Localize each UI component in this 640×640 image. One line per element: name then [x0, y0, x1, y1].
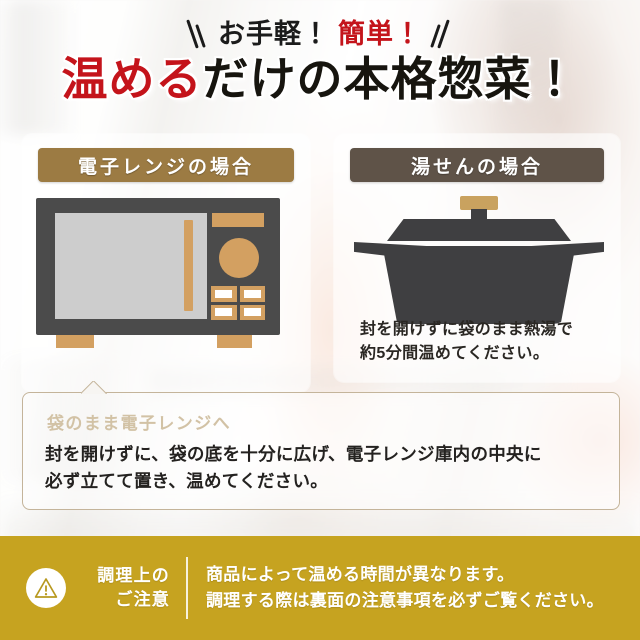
callout-pointer	[81, 381, 107, 394]
callout-body-line-2: 必ず立てて置き、温めてください。	[45, 468, 603, 495]
microwave-key	[240, 286, 266, 302]
kicker-text-red: 簡単！	[338, 21, 422, 48]
instruction-graphic: お手軽！ 簡単！ 温めるだけの本格惣菜！ 電子レンジの場合	[0, 0, 640, 640]
pot-lid	[387, 219, 571, 241]
page-title: 温めるだけの本格惣菜！	[0, 56, 640, 104]
caution-label: 調理上の ご注意	[78, 564, 170, 612]
card-boiling-title: 湯せんの場合	[350, 148, 604, 182]
microwave-keypad	[211, 286, 265, 320]
slash-right-icon	[430, 19, 452, 49]
callout-body: 封を開けずに、袋の底を十分に広げ、電子レンジ庫内の中央に 必ず立てて置き、温めて…	[45, 441, 603, 496]
caution-text: 商品によって温める時間が異なります。 調理する際は裏面の注意事項を必ずご覧くださ…	[206, 562, 604, 614]
callout-body-line-1: 封を開けずに、袋の底を十分に広げ、電子レンジ庫内の中央に	[45, 441, 603, 468]
caution-label-line-1: 調理上の	[78, 564, 170, 588]
page-title-red: 温める	[62, 53, 203, 105]
warning-triangle-glyph	[34, 577, 58, 599]
slash-left-icon	[188, 19, 210, 49]
card-boiling: 湯せんの場合 封を開けずに袋のまま熱湯で 約5分間温めてください。	[334, 134, 620, 382]
warning-triangle-icon	[26, 568, 66, 608]
boiling-instruction-line-2: 約5分間温めてください。	[360, 342, 610, 366]
callout-box: 袋のまま電子レンジへ 封を開けずに、袋の底を十分に広げ、電子レンジ庫内の中央に …	[22, 392, 620, 510]
microwave-handle	[184, 220, 193, 311]
caution-label-line-2: ご注意	[78, 588, 170, 612]
microwave-foot	[217, 335, 252, 348]
microwave-key	[211, 305, 237, 321]
card-microwave: 電子レンジの場合	[22, 134, 310, 392]
caution-text-line-2: 調理する際は裏面の注意事項を必ずご覧ください。	[206, 588, 604, 614]
headline-block: お手軽！ 簡単！ 温めるだけの本格惣菜！	[0, 16, 640, 104]
card-microwave-title: 電子レンジの場合	[38, 148, 294, 182]
microwave-key	[211, 286, 237, 302]
page-title-black: だけの本格惣菜！	[203, 53, 579, 105]
kicker-text-black: お手軽！	[218, 21, 330, 48]
microwave-body	[36, 198, 280, 335]
pot-body	[384, 254, 574, 324]
headline-kicker: お手軽！ 簡単！	[0, 16, 640, 52]
microwave-key	[240, 305, 266, 321]
caution-divider	[186, 557, 188, 619]
microwave-display	[212, 213, 264, 227]
microwave-dial-icon	[219, 238, 259, 278]
pot-knob	[460, 196, 498, 210]
microwave-foot	[56, 335, 94, 348]
callout-subtitle: 袋のまま電子レンジへ	[47, 409, 231, 434]
caution-bar: 調理上の ご注意 商品によって温める時間が異なります。 調理する際は裏面の注意事…	[0, 536, 640, 640]
boiling-instruction-line-1: 封を開けずに袋のまま熱湯で	[360, 318, 610, 342]
microwave-illustration	[34, 198, 298, 358]
caution-text-line-1: 商品によって温める時間が異なります。	[206, 562, 604, 588]
pot-illustration	[354, 196, 604, 324]
boiling-instruction: 封を開けずに袋のまま熱湯で 約5分間温めてください。	[360, 318, 610, 367]
